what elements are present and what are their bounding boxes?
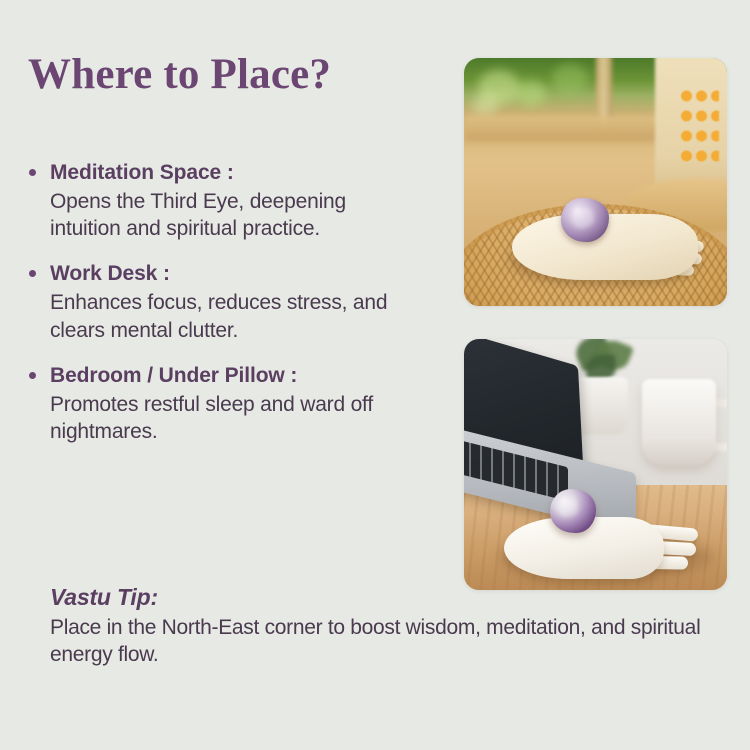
foliage-bokeh-icon xyxy=(552,64,588,94)
poster-canvas: Where to Place? Meditation Space : Opens… xyxy=(0,0,750,750)
bullet-dot-icon xyxy=(29,270,36,277)
work-desk-photo xyxy=(464,339,727,590)
foliage-bokeh-icon xyxy=(472,94,498,116)
perforation-dots-icon xyxy=(679,86,719,166)
bullet-heading: Meditation Space : xyxy=(50,160,444,187)
list-item: Bedroom / Under Pillow : Promotes restfu… xyxy=(24,363,444,445)
bullet-heading: Bedroom / Under Pillow : xyxy=(50,363,444,390)
list-item: Work Desk : Enhances focus, reduces stre… xyxy=(24,261,444,343)
bullet-dot-icon xyxy=(29,169,36,176)
foliage-bokeh-icon xyxy=(516,80,546,106)
vastu-tip-body: Place in the North-East corner to boost … xyxy=(50,614,710,669)
bullet-body: Enhances focus, reduces stress, and clea… xyxy=(50,289,410,344)
bullet-body: Promotes restful sleep and ward off nigh… xyxy=(50,391,410,446)
bullet-dot-icon xyxy=(29,372,36,379)
white-mug xyxy=(642,379,716,465)
bullet-heading: Work Desk : xyxy=(50,261,444,288)
meditation-space-photo xyxy=(464,58,727,306)
page-title: Where to Place? xyxy=(28,52,331,97)
list-item: Meditation Space : Opens the Third Eye, … xyxy=(24,160,444,242)
photo-scene-top xyxy=(464,58,727,306)
bullet-body: Opens the Third Eye, deepening intuition… xyxy=(50,188,410,243)
placement-bullet-list: Meditation Space : Opens the Third Eye, … xyxy=(24,160,444,464)
photo-scene-bottom xyxy=(464,339,727,590)
vastu-tip-block: Vastu Tip: Place in the North-East corne… xyxy=(50,583,740,669)
